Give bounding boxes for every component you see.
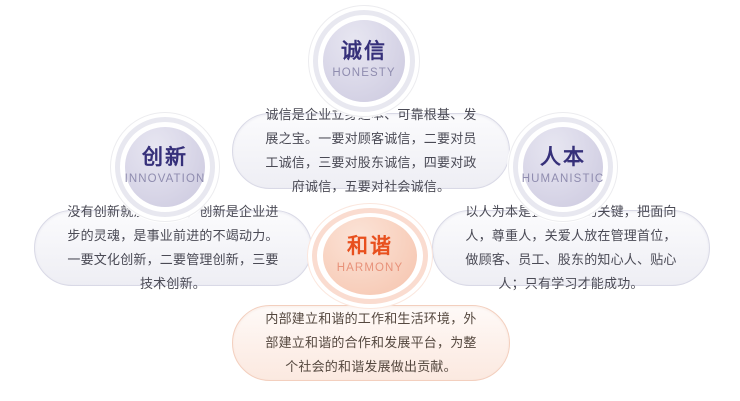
circle-label-en-honesty: HONESTY [332,65,395,82]
circle-label-cn-humanistic: 人本 [540,146,586,170]
value-circle-innovation[interactable]: 创新 INNOVATION [110,112,220,222]
value-circle-humanistic[interactable]: 人本 HUMANISTIC [508,112,618,222]
circle-disc-harmony: 和谐 HARMONY [322,216,418,296]
circle-disc-honesty: 诚信 HONESTY [322,19,406,103]
value-bubble-honesty: 诚信是企业立身之本、可靠根基、发展之宝。一要对顾客诚信，二要对员工诚信，三要对股… [232,113,510,189]
value-bubble-harmony: 内部建立和谐的工作和生活环境，外部建立和谐的合作和发展平台，为整个社会的和谐发展… [232,305,510,381]
infographic-canvas: 诚信是企业立身之本、可靠根基、发展之宝。一要对顾客诚信，二要对员工诚信，三要对股… [0,0,740,401]
circle-label-cn-honesty: 诚信 [341,40,387,64]
circle-disc-innovation: 创新 INNOVATION [124,126,206,208]
circle-label-en-harmony: HARMONY [337,260,403,277]
circle-label-en-innovation: INNOVATION [125,171,206,188]
circle-label-cn-innovation: 创新 [142,146,188,170]
value-circle-harmony[interactable]: 和谐 HARMONY [307,203,433,309]
circle-label-en-humanistic: HUMANISTIC [522,171,605,188]
circle-label-cn-harmony: 和谐 [347,235,393,259]
bubble-text-harmony: 内部建立和谐的工作和生活环境，外部建立和谐的合作和发展平台，为整个社会的和谐发展… [233,307,509,379]
value-circle-honesty[interactable]: 诚信 HONESTY [308,5,420,117]
circle-disc-humanistic: 人本 HUMANISTIC [522,126,604,208]
bubble-text-honesty: 诚信是企业立身之本、可靠根基、发展之宝。一要对顾客诚信，二要对员工诚信，三要对股… [233,103,509,199]
